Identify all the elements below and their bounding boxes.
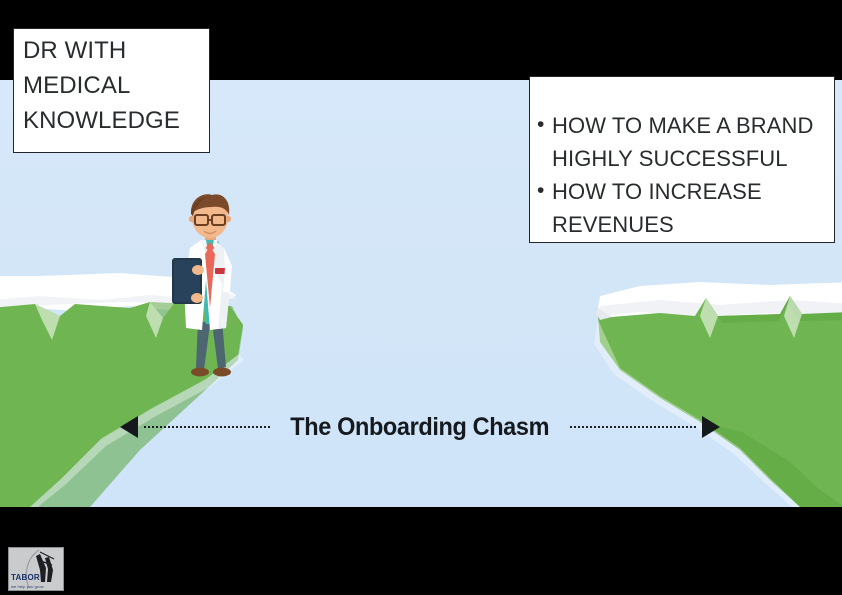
chasm-connector-left — [144, 426, 270, 428]
shoe-right — [213, 368, 231, 377]
hand-upper — [192, 265, 204, 275]
right-cliff — [594, 282, 842, 507]
tabor-logo-icon: TABOR we help you grow — [8, 547, 64, 591]
chasm-connector-right — [570, 426, 696, 428]
list-item: HOW TO MAKE A BRAND HIGHLY SUCCESSFUL — [537, 109, 837, 175]
list-item: HOW TO INCREASE REVENUES — [537, 175, 837, 241]
shoe-left — [191, 368, 209, 377]
logo-wordmark: TABOR — [11, 573, 40, 582]
slide-canvas: The Onboarding Chasm DR WITH MEDICAL KNO… — [0, 0, 842, 595]
arrow-right-icon — [702, 416, 720, 438]
right-callout-list: HOW TO MAKE A BRAND HIGHLY SUCCESSFUL HO… — [537, 109, 837, 241]
right-callout-box: HOW TO MAKE A BRAND HIGHLY SUCCESSFUL HO… — [529, 76, 835, 243]
chasm-measure: The Onboarding Chasm — [120, 408, 720, 446]
left-callout-box: DR WITH MEDICAL KNOWLEDGE — [13, 28, 210, 153]
left-callout-text: DR WITH MEDICAL KNOWLEDGE — [23, 33, 273, 138]
hand-lower — [191, 293, 203, 303]
doctor-illustration — [160, 188, 260, 388]
logo-tagline: we help you grow — [11, 584, 44, 589]
chasm-label: The Onboarding Chasm — [285, 413, 555, 442]
arrow-left-icon — [120, 416, 138, 438]
